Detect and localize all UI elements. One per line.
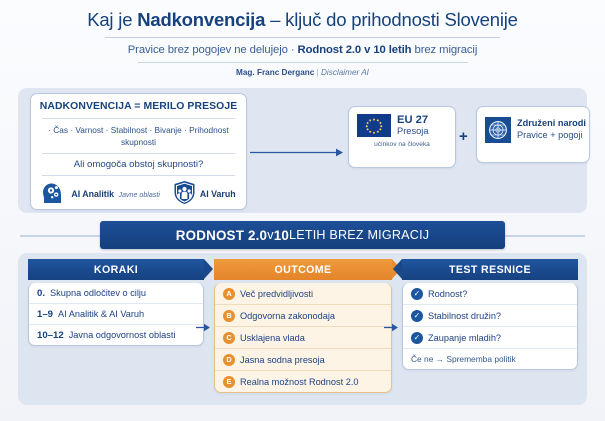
- criteria-card-title: NADKONVENCIJA = MERILO PRESOJE: [31, 94, 246, 118]
- byline: Mag. Franc Derganc | Disclaimer AI: [0, 68, 605, 77]
- check-icon: ✓: [411, 310, 423, 322]
- criteria-question: Ali omogoča obstoj skupnosti?: [31, 154, 246, 175]
- list-item: E Realna možnost Rodnost 2.0: [215, 371, 391, 392]
- truth-test-note: Če ne → Sprememba politik: [403, 349, 577, 369]
- criteria-card: NADKONVENCIJA = MERILO PRESOJE · Čas · V…: [30, 93, 247, 210]
- title-divider: [105, 37, 500, 38]
- eu-card-text: EU 27 Presoja: [397, 114, 429, 138]
- outcome-label: Jasna sodna presoja: [240, 355, 325, 365]
- step-label: Skupna odločitev o cilju: [50, 288, 146, 298]
- outcome-label: Realna možnost Rodnost 2.0: [240, 377, 359, 387]
- check-icon: ✓: [411, 332, 423, 344]
- subtitle-pre: Pravice brez pogojev ne delujejo ·: [128, 44, 298, 56]
- eu-card-title: EU 27: [397, 114, 429, 126]
- list-item: ✓ Stabilnost družin?: [403, 305, 577, 327]
- un-card-line2: Pravice + pogoji: [517, 130, 586, 142]
- ai-varuh-block: AI Varuh: [173, 180, 236, 205]
- ai-agents-row: AI Analitik Javne oblasti: [31, 176, 246, 205]
- page-subtitle: Pravice brez pogojev ne delujejo · Rodno…: [0, 44, 605, 56]
- subtitle-post: brez migracij: [411, 44, 477, 56]
- ai-analitik-name: AI Analitik: [71, 189, 114, 199]
- page-title: Kaj je Nadkonvencija – ključ do prihodno…: [0, 9, 605, 30]
- main-banner: RODNOST 2.0 v 10 LETIH BREZ MIGRACIJ: [100, 221, 505, 249]
- outcome-heading: OUTCOME: [214, 259, 392, 280]
- outcome-badge: B: [223, 310, 235, 322]
- eu-card-line2: Presoja: [397, 126, 429, 138]
- list-item: ✓ Zaupanje mladih?: [403, 327, 577, 349]
- criteria-list: · Čas · Varnost · Stabilnost · Bivanje ·…: [31, 119, 246, 153]
- steps-panel: 0. Skupna odločitev o cilju 1–9 AI Anali…: [28, 283, 204, 346]
- outcome-label: Usklajena vlada: [240, 333, 305, 343]
- outcome-badge: D: [223, 354, 235, 366]
- truth-test-label: Stabilnost družin?: [428, 311, 501, 321]
- column-steps: KORAKI 0. Skupna odločitev o cilju 1–9 A…: [28, 259, 204, 346]
- middle-section: NADKONVENCIJA = MERILO PRESOJE · Čas · V…: [18, 88, 587, 213]
- ai-varuh-name: AI Varuh: [200, 189, 236, 199]
- title-bold: Nadkonvencija: [137, 9, 265, 30]
- banner-light-2: LETIH BREZ MIGRACIJ: [289, 228, 429, 242]
- step-number: 0.: [37, 288, 45, 299]
- ai-analitik-sub: Javne oblasti: [119, 191, 160, 199]
- plus-symbol: +: [459, 128, 468, 145]
- truth-test-heading: TEST RESNICE: [402, 259, 578, 280]
- title-pre: Kaj je: [87, 9, 137, 30]
- list-item: 1–9 AI Analitik & AI Varuh: [29, 304, 203, 325]
- shield-people-icon: [173, 180, 196, 205]
- list-item: ✓ Rodnost?: [403, 283, 577, 305]
- disclaimer-label: Disclaimer AI: [321, 68, 369, 77]
- truth-test-label: Rodnost?: [428, 289, 467, 299]
- ai-analitik-text: AI Analitik Javne oblasti: [71, 184, 160, 202]
- banner-bold-1: RODNOST 2.0: [176, 228, 268, 243]
- eu-card-caption: učinkov na človeka: [349, 141, 455, 148]
- outcome-panel: A Več predvidljivosti B Odgovorna zakono…: [214, 283, 392, 393]
- header: Kaj je Nadkonvencija – ključ do prihodno…: [0, 0, 605, 77]
- step-label: AI Analitik & AI Varuh: [58, 309, 144, 319]
- banner-bold-2: 10: [274, 228, 289, 243]
- un-card-inner: Združeni narodi Pravice + pogoji: [477, 107, 589, 143]
- eu-card: EU 27 Presoja učinkov na človeka: [348, 106, 456, 168]
- step-number: 1–9: [37, 309, 53, 320]
- truth-test-label: Zaupanje mladih?: [428, 333, 501, 343]
- subtitle-bold: Rodnost 2.0 v 10 letih: [298, 44, 412, 56]
- outcome-badge: A: [223, 288, 235, 300]
- outcome-badge: C: [223, 332, 235, 344]
- banner-section: RODNOST 2.0 v 10 LETIH BREZ MIGRACIJ: [0, 221, 605, 251]
- eu-flag-icon: [357, 114, 391, 137]
- column-outcome: OUTCOME A Več predvidljivosti B Odgovorn…: [214, 259, 392, 393]
- steps-heading: KORAKI: [28, 259, 204, 280]
- step-number: 10–12: [37, 330, 64, 341]
- ai-analitik-block: AI Analitik Javne oblasti: [41, 181, 160, 205]
- un-card-text: Združeni narodi Pravice + pogoji: [517, 118, 586, 141]
- un-card-title: Združeni narodi: [517, 118, 586, 130]
- bottom-section: KORAKI 0. Skupna odločitev o cilju 1–9 A…: [18, 253, 587, 405]
- un-card: Združeni narodi Pravice + pogoji: [476, 106, 590, 163]
- list-item: 10–12 Javna odgovornost oblasti: [29, 325, 203, 345]
- outcome-badge: E: [223, 376, 235, 388]
- subtitle-divider: [138, 62, 468, 63]
- outcome-label: Več predvidljivosti: [240, 289, 313, 299]
- title-post: – ključ do prihodnosti Slovenije: [265, 9, 518, 30]
- head-gears-icon: [41, 181, 67, 205]
- step-label: Javna odgovornost oblasti: [69, 330, 176, 340]
- list-item: B Odgovorna zakonodaja: [215, 305, 391, 327]
- banner-line-right: [495, 235, 585, 237]
- ai-varuh-text: AI Varuh: [200, 184, 236, 202]
- column-truth-test: TEST RESNICE ✓ Rodnost? ✓ Stabilnost dru…: [402, 259, 578, 370]
- un-emblem-icon: [485, 117, 511, 143]
- list-item: A Več predvidljivosti: [215, 283, 391, 305]
- byline-separator: |: [317, 68, 319, 77]
- arrow-steps-to-outcome-icon: [196, 323, 210, 332]
- eu-card-inner: EU 27 Presoja: [349, 107, 455, 138]
- list-item: D Jasna sodna presoja: [215, 349, 391, 371]
- list-item: 0. Skupna odločitev o cilju: [29, 283, 203, 304]
- truth-test-panel: ✓ Rodnost? ✓ Stabilnost družin? ✓ Zaupan…: [402, 283, 578, 370]
- arrow-to-eu-icon: [250, 148, 343, 157]
- check-icon: ✓: [411, 288, 423, 300]
- outcome-label: Odgovorna zakonodaja: [240, 311, 335, 321]
- list-item: C Usklajena vlada: [215, 327, 391, 349]
- arrow-outcome-to-test-icon: [384, 323, 398, 332]
- banner-line-left: [20, 235, 110, 237]
- author-name: Mag. Franc Derganc: [236, 68, 314, 77]
- infographic-page: Kaj je Nadkonvencija – ključ do prihodno…: [0, 0, 605, 421]
